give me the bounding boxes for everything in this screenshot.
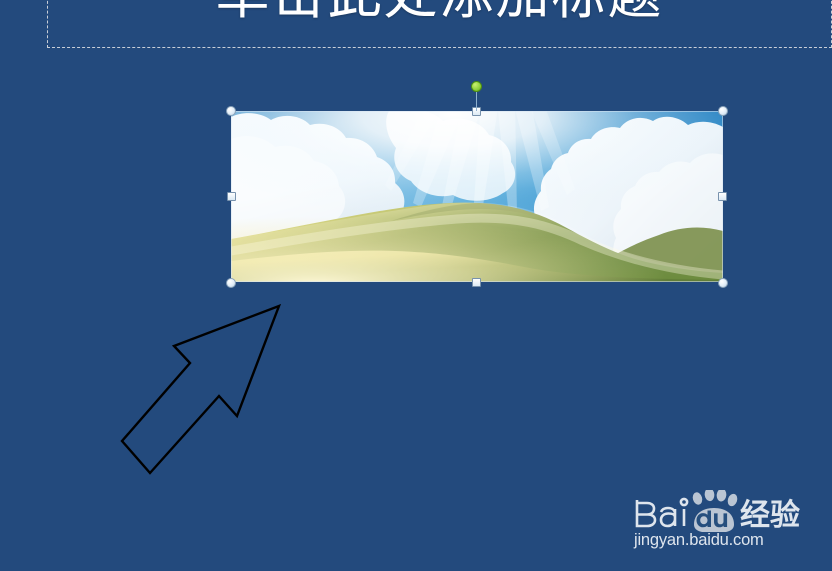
sky-landscape-image[interactable]: [231, 111, 723, 282]
picture-object[interactable]: [231, 111, 723, 282]
resize-handle-middle-right[interactable]: [718, 192, 727, 201]
resize-handle-bottom-center[interactable]: [472, 278, 481, 287]
baidu-watermark-url: jingyan.baidu.com: [634, 531, 764, 550]
rotate-handle[interactable]: [471, 81, 482, 92]
jingyan-characters: 经验: [740, 498, 800, 532]
title-placeholder[interactable]: 单击此处添加标题: [47, 0, 832, 48]
title-placeholder-text: 单击此处添加标题: [216, 0, 664, 23]
resize-handle-bottom-left[interactable]: [226, 278, 236, 288]
resize-handle-top-right[interactable]: [718, 106, 728, 116]
bear-paw-icon: [691, 490, 738, 532]
baidu-logo-icon: 经验: [632, 490, 800, 532]
arrow-outline-path: [122, 306, 279, 473]
slide-canvas[interactable]: 单击此处添加标题: [0, 0, 832, 571]
resize-handle-middle-left[interactable]: [227, 192, 236, 201]
resize-handle-top-left[interactable]: [226, 106, 236, 116]
pointer-arrow-annotation: [110, 295, 300, 485]
baidu-jingyan-watermark: 经验 jingyan.baidu.com: [632, 490, 800, 552]
resize-handle-bottom-right[interactable]: [718, 278, 728, 288]
letter-i-dot: [681, 499, 687, 505]
